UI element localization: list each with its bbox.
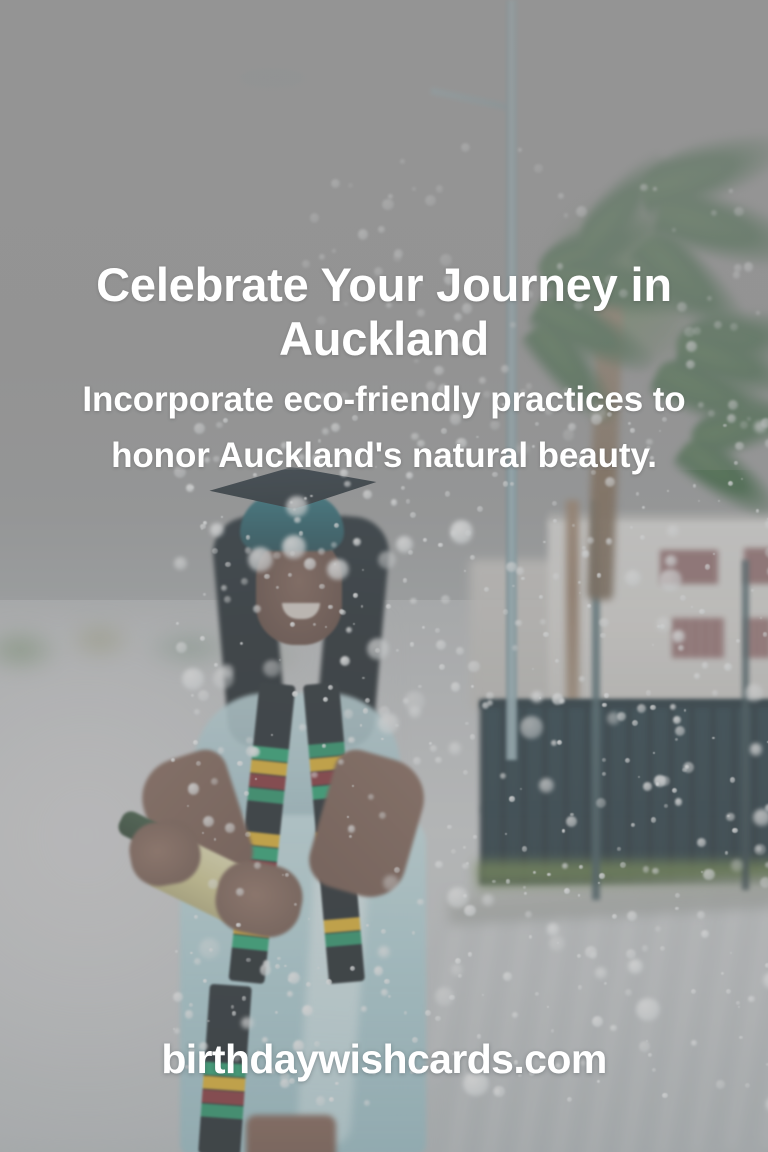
- card-text-block: Celebrate Your Journey in Auckland Incor…: [0, 258, 768, 484]
- page-subtitle: Incorporate eco-friendly practices to ho…: [66, 372, 702, 484]
- greeting-card: Celebrate Your Journey in Auckland Incor…: [0, 0, 768, 1152]
- page-title: Celebrate Your Journey in Auckland: [66, 258, 702, 366]
- site-watermark: birthdaywishcards.com: [0, 1036, 768, 1083]
